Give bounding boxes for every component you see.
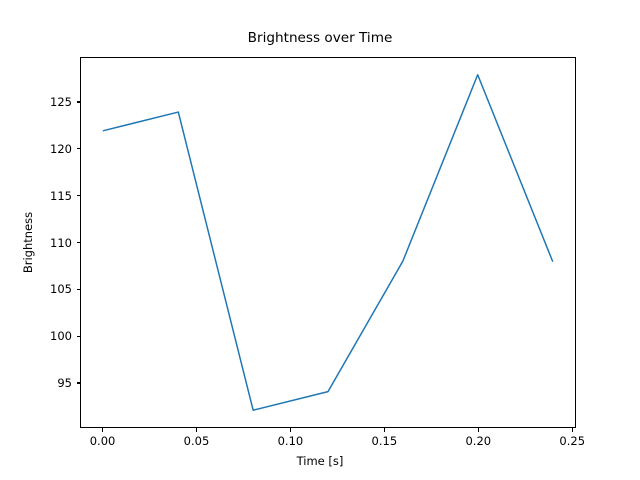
- y-tick-label: 100: [38, 329, 72, 343]
- y-tick-label: 105: [38, 282, 72, 296]
- x-axis-label: Time [s]: [0, 454, 640, 468]
- y-tick-mark: [77, 195, 81, 196]
- matplotlib-figure: Brightness over Time 0.000.050.100.150.2…: [0, 0, 640, 480]
- y-tick-mark: [77, 336, 81, 337]
- x-tick-label: 0.20: [465, 434, 491, 448]
- x-tick-label: 0.10: [278, 434, 304, 448]
- x-tick-mark: [196, 428, 197, 432]
- y-tick-mark: [77, 148, 81, 149]
- y-tick-label: 125: [38, 95, 72, 109]
- y-tick-mark: [77, 242, 81, 243]
- y-tick-label: 120: [38, 142, 72, 156]
- x-tick-label: 0.15: [372, 434, 398, 448]
- y-axis-label: Brightness: [20, 57, 36, 428]
- y-tick-mark: [77, 101, 81, 102]
- plot-axes: [80, 57, 576, 428]
- x-tick-label: 0.00: [90, 434, 116, 448]
- brightness-line-series: [103, 75, 552, 410]
- y-tick-label: 110: [38, 236, 72, 250]
- y-tick-label: 115: [38, 189, 72, 203]
- page-title: Brightness over Time: [0, 30, 640, 46]
- x-tick-label: 0.25: [559, 434, 585, 448]
- x-tick-label: 0.05: [184, 434, 210, 448]
- plot-area: [81, 58, 575, 427]
- y-tick-label: 95: [38, 376, 72, 390]
- x-tick-mark: [384, 428, 385, 432]
- x-tick-mark: [290, 428, 291, 432]
- x-tick-mark: [478, 428, 479, 432]
- x-tick-mark: [572, 428, 573, 432]
- y-tick-mark: [77, 382, 81, 383]
- y-tick-mark: [77, 289, 81, 290]
- x-tick-mark: [102, 428, 103, 432]
